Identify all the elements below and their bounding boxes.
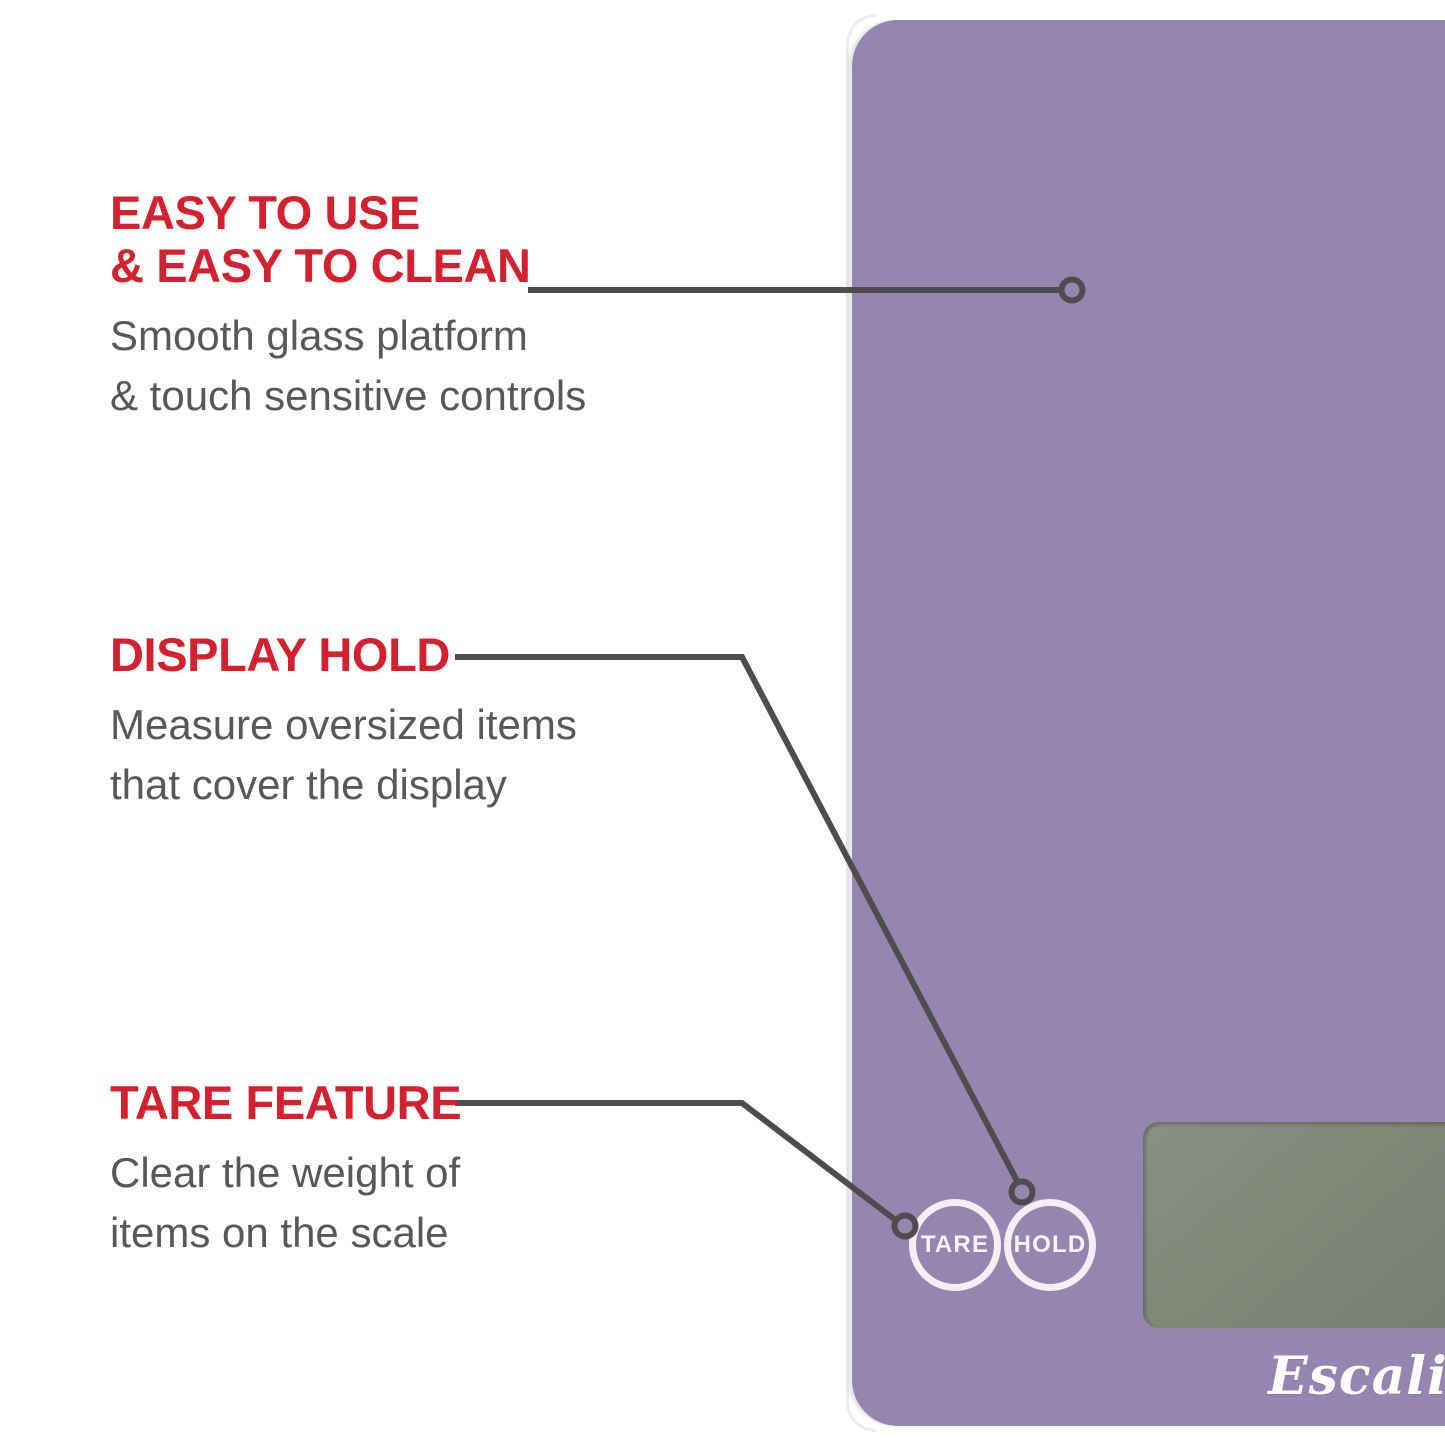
callout-title: DISPLAY HOLD: [110, 628, 577, 681]
callout-description: Smooth glass platform & touch sensitive …: [110, 306, 586, 426]
callout-tare-feature: TARE FEATURE Clear the weight of items o…: [110, 1076, 461, 1263]
hold-button[interactable]: HOLD: [1004, 1199, 1096, 1291]
callout-title: EASY TO USE & EASY TO CLEAN: [110, 186, 586, 292]
hold-button-label: HOLD: [1014, 1231, 1087, 1259]
infographic-canvas: TARE HOLD Escali EASY TO USE & EASY TO C…: [0, 0, 1445, 1445]
escali-brand-logo: Escali: [1268, 1346, 1445, 1407]
callout-display-hold: DISPLAY HOLD Measure oversized items tha…: [110, 628, 577, 815]
lcd-display: [1143, 1122, 1445, 1328]
callout-description: Measure oversized items that cover the d…: [110, 695, 577, 815]
tare-button-label: TARE: [921, 1231, 989, 1259]
callout-title: TARE FEATURE: [110, 1076, 461, 1129]
leader-line-tare-feature: [455, 1103, 916, 1237]
tare-button[interactable]: TARE: [909, 1199, 1001, 1291]
callout-description: Clear the weight of items on the scale: [110, 1143, 461, 1263]
callout-easy-to-use: EASY TO USE & EASY TO CLEAN Smooth glass…: [110, 186, 586, 426]
